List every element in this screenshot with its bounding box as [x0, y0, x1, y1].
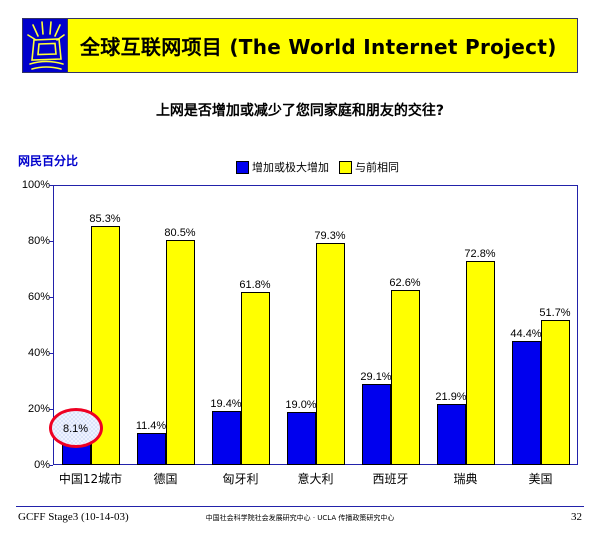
x-axis-labels: 中国12城市德国匈牙利意大利西班牙瑞典美国	[53, 470, 578, 492]
y-tick-mark	[49, 465, 53, 466]
y-tick-label: 60%	[28, 291, 50, 303]
y-tick-label: 80%	[28, 235, 50, 247]
bar-group: 11.4%80.5%	[137, 185, 195, 465]
chart-question-subtitle: 上网是否增加或减少了您同家庭和朋友的交往?	[0, 100, 600, 120]
monitor-screen-icon	[22, 18, 68, 73]
bar-value-label: 80.5%	[164, 227, 195, 239]
footer-source-label: GCFF Stage3 (10-14-03)	[18, 511, 129, 523]
footer: GCFF Stage3 (10-14-03) 中国社会科学院社会发展研究中心 ·…	[16, 510, 584, 530]
bar-same[interactable]: 62.6%	[391, 290, 420, 465]
y-tick-label: 100%	[22, 179, 50, 191]
bar-increase[interactable]: 21.9%	[437, 404, 466, 465]
bar-increase[interactable]: 11.4%	[137, 433, 166, 465]
bar-group: 44.4%51.7%	[512, 185, 570, 465]
x-axis-label: 德国	[153, 470, 177, 487]
bars-layer: 8.1%85.3%11.4%80.5%19.4%61.8%19.0%79.3%2…	[53, 185, 578, 465]
bar-value-label: 72.8%	[464, 248, 495, 260]
bar-group: 19.0%79.3%	[287, 185, 345, 465]
x-axis-label: 意大利	[297, 470, 333, 487]
legend-swatch-yellow	[339, 161, 352, 174]
x-axis-label: 中国12城市	[59, 470, 122, 487]
bar-same[interactable]: 80.5%	[166, 240, 195, 465]
header-band: 全球互联网项目 (The World Internet Project)	[22, 18, 578, 73]
chart-legend: 增加或极大增加 与前相同	[236, 159, 399, 175]
x-axis-label: 西班牙	[372, 470, 408, 487]
footer-divider	[16, 506, 584, 507]
bar-value-label: 79.3%	[314, 230, 345, 242]
bar-increase[interactable]: 29.1%	[362, 384, 391, 465]
bar-increase[interactable]: 19.4%	[212, 411, 241, 465]
legend-swatch-blue	[236, 161, 249, 174]
legend-label-same: 与前相同	[355, 159, 399, 175]
bar-same[interactable]: 61.8%	[241, 292, 270, 465]
bar-value-label: 11.4%	[136, 420, 166, 432]
bar-value-label: 21.9%	[435, 391, 466, 403]
bar-value-label: 44.4%	[510, 328, 541, 340]
chart-plot-area: 0%20%40%60%80%100% 8.1%85.3%11.4%80.5%19…	[53, 185, 578, 465]
bar-value-label: 19.0%	[285, 399, 316, 411]
bar-group: 21.9%72.8%	[437, 185, 495, 465]
legend-label-increase: 增加或极大增加	[252, 159, 329, 175]
y-tick-label: 0%	[34, 459, 50, 471]
legend-item-same: 与前相同	[339, 159, 399, 175]
bar-value-label: 51.7%	[539, 307, 570, 319]
bar-value-label: 62.6%	[389, 277, 420, 289]
bar-group: 29.1%62.6%	[362, 185, 420, 465]
bar-increase[interactable]: 44.4%	[512, 341, 541, 465]
bar-same[interactable]: 72.8%	[466, 261, 495, 465]
page-title: 全球互联网项目 (The World Internet Project)	[80, 31, 557, 60]
y-tick-label: 20%	[28, 403, 50, 415]
bar-value-label: 61.8%	[239, 279, 270, 291]
bar-same[interactable]: 79.3%	[316, 243, 345, 465]
header-title-box: 全球互联网项目 (The World Internet Project)	[68, 18, 578, 73]
bar-value-label: 29.1%	[360, 371, 391, 383]
x-axis-label: 匈牙利	[222, 470, 258, 487]
y-tick-label: 40%	[28, 347, 50, 359]
bar-value-label: 19.4%	[210, 398, 241, 410]
bar-increase[interactable]: 19.0%	[287, 412, 316, 465]
bar-same[interactable]: 51.7%	[541, 320, 570, 465]
legend-item-increase: 增加或极大增加	[236, 159, 329, 175]
y-axis-title: 网民百分比	[18, 152, 78, 169]
bar-value-label: 85.3%	[89, 213, 120, 225]
highlight-value-label: 8.1%	[63, 423, 88, 435]
footer-page-number: 32	[571, 511, 582, 523]
x-axis-label: 瑞典	[453, 470, 477, 487]
x-axis-label: 美国	[528, 470, 552, 487]
highlight-ellipse: 8.1%	[49, 408, 103, 448]
footer-institution-label: 中国社会科学院社会发展研究中心 · UCLA 传播政策研究中心	[206, 513, 395, 523]
bar-group: 19.4%61.8%	[212, 185, 270, 465]
